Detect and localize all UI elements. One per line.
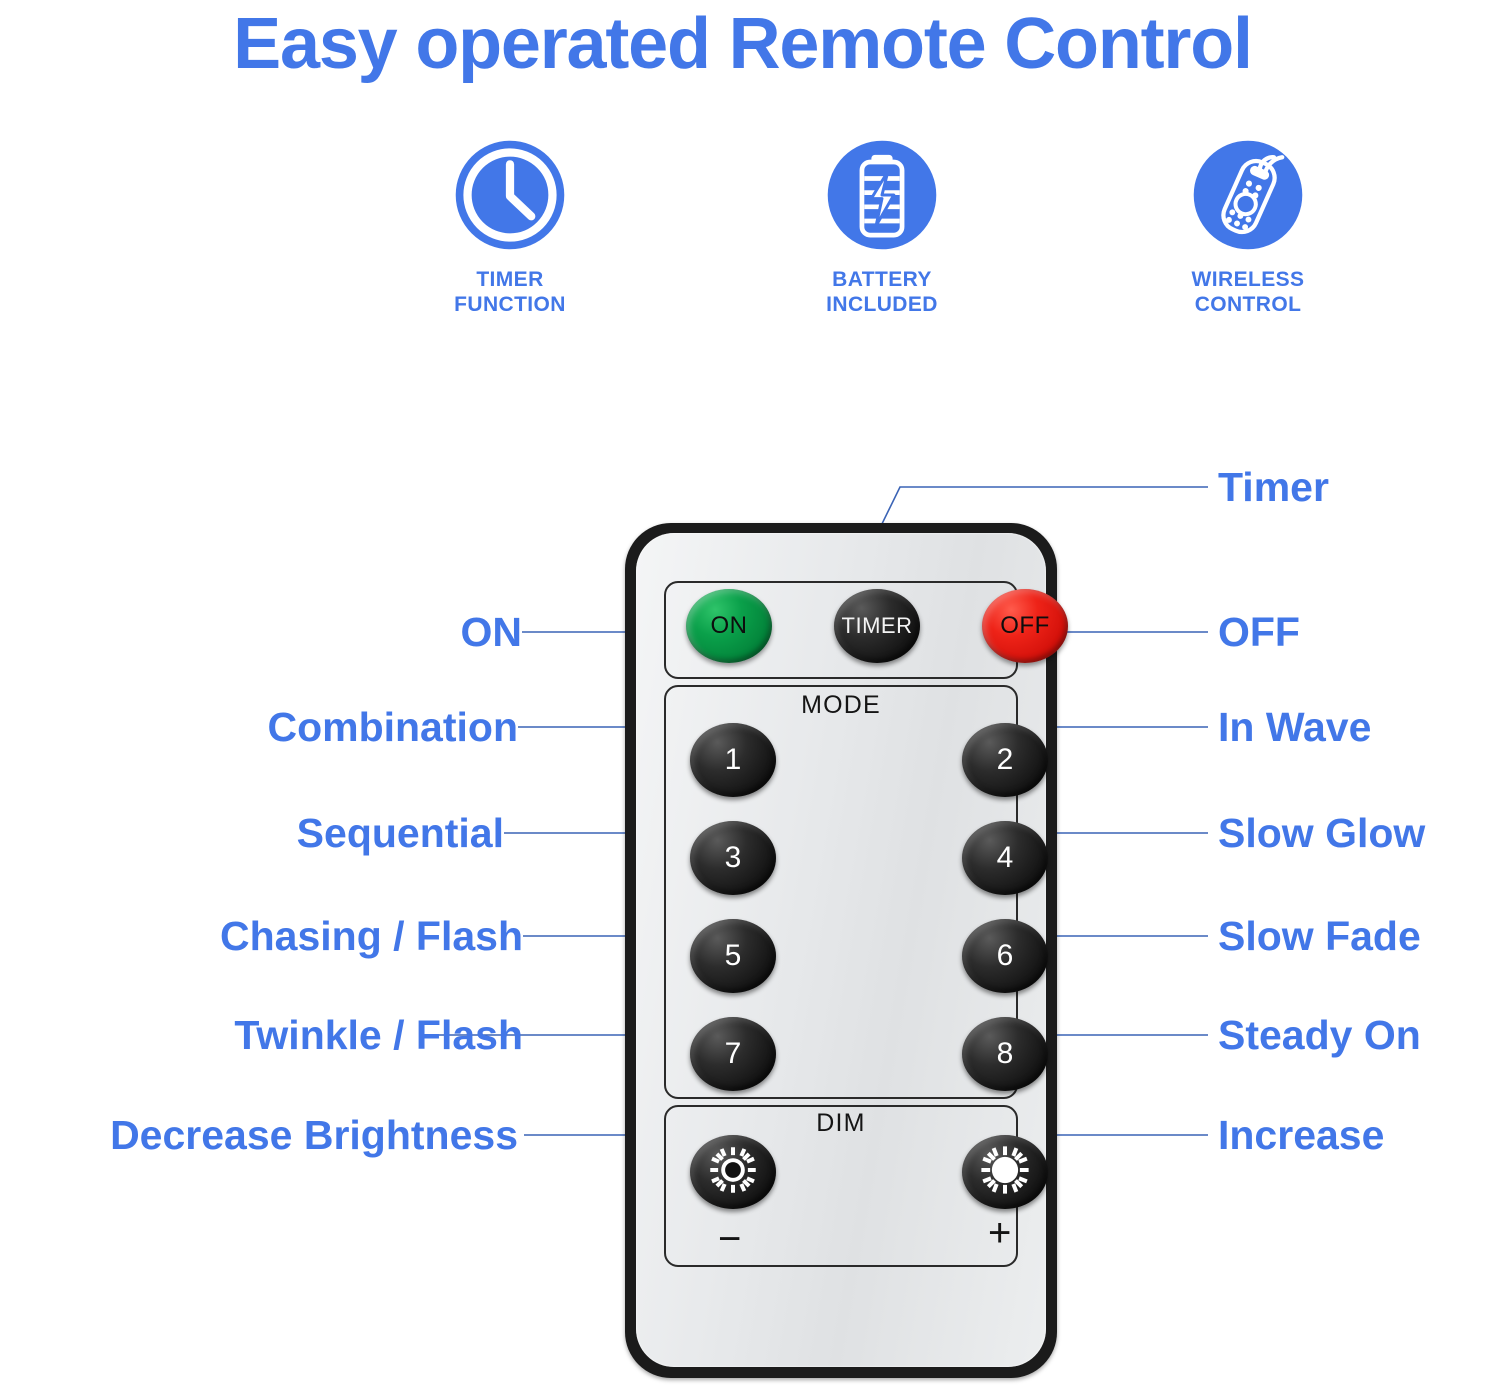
mode-panel: MODE 1 2 3 4 5 6 7 8: [664, 685, 1018, 1099]
power-panel: ON TIMER OFF: [664, 581, 1018, 679]
callout-slow-fade: Slow Fade: [1218, 913, 1421, 959]
remote-faceplate: ON TIMER OFF MODE 1 2 3 4: [636, 533, 1046, 1367]
mode-button-8[interactable]: 8: [962, 1017, 1048, 1091]
dim-down-button[interactable]: [690, 1135, 776, 1209]
callout-increase: Increase: [1218, 1112, 1384, 1158]
dim-plus-sign: +: [988, 1213, 1011, 1253]
callout-combination: Combination: [62, 704, 518, 750]
callout-decrease-brightness: Decrease Brightness: [8, 1112, 518, 1158]
mode-button-6[interactable]: 6: [962, 919, 1048, 993]
remote-control-device: ON TIMER OFF MODE 1 2 3 4: [625, 523, 1057, 1378]
callout-steady-on: Steady On: [1218, 1012, 1421, 1058]
dim-minus-sign: −: [718, 1219, 741, 1259]
mode-button-label: 1: [725, 743, 742, 777]
mode-button-4[interactable]: 4: [962, 821, 1048, 895]
callout-off: OFF: [1218, 609, 1300, 655]
mode-button-1[interactable]: 1: [690, 723, 776, 797]
off-button-label: OFF: [1000, 612, 1050, 640]
dim-up-button[interactable]: [962, 1135, 1048, 1209]
brightness-low-icon: [705, 1142, 761, 1203]
timer-button-label: TIMER: [842, 613, 913, 639]
dim-panel: DIM: [664, 1105, 1018, 1267]
callout-slow-glow: Slow Glow: [1218, 810, 1425, 856]
on-button-label: ON: [711, 612, 748, 640]
mode-button-label: 5: [725, 939, 742, 973]
callout-sequential: Sequential: [62, 810, 504, 856]
mode-button-label: 4: [997, 841, 1014, 875]
mode-button-label: 7: [725, 1037, 742, 1071]
mode-button-3[interactable]: 3: [690, 821, 776, 895]
mode-section-label: MODE: [666, 691, 1016, 720]
callout-timer: Timer: [1218, 464, 1329, 510]
off-button[interactable]: OFF: [982, 589, 1068, 663]
mode-button-2[interactable]: 2: [962, 723, 1048, 797]
poster-canvas: Easy operated Remote Control TIMER FUNCT…: [0, 0, 1485, 1388]
brightness-high-icon: [977, 1142, 1033, 1203]
dim-section-label: DIM: [666, 1109, 1016, 1138]
timer-button[interactable]: TIMER: [834, 589, 920, 663]
mode-button-label: 6: [997, 939, 1014, 973]
callout-on: ON: [62, 609, 522, 655]
on-button[interactable]: ON: [686, 589, 772, 663]
mode-button-label: 2: [997, 743, 1014, 777]
mode-button-label: 8: [997, 1037, 1014, 1071]
mode-button-5[interactable]: 5: [690, 919, 776, 993]
mode-button-label: 3: [725, 841, 742, 875]
mode-button-7[interactable]: 7: [690, 1017, 776, 1091]
callout-in-wave: In Wave: [1218, 704, 1371, 750]
callout-twinkle-flash: Twinkle / Flash: [62, 1012, 523, 1058]
callout-chasing-flash: Chasing / Flash: [62, 913, 523, 959]
